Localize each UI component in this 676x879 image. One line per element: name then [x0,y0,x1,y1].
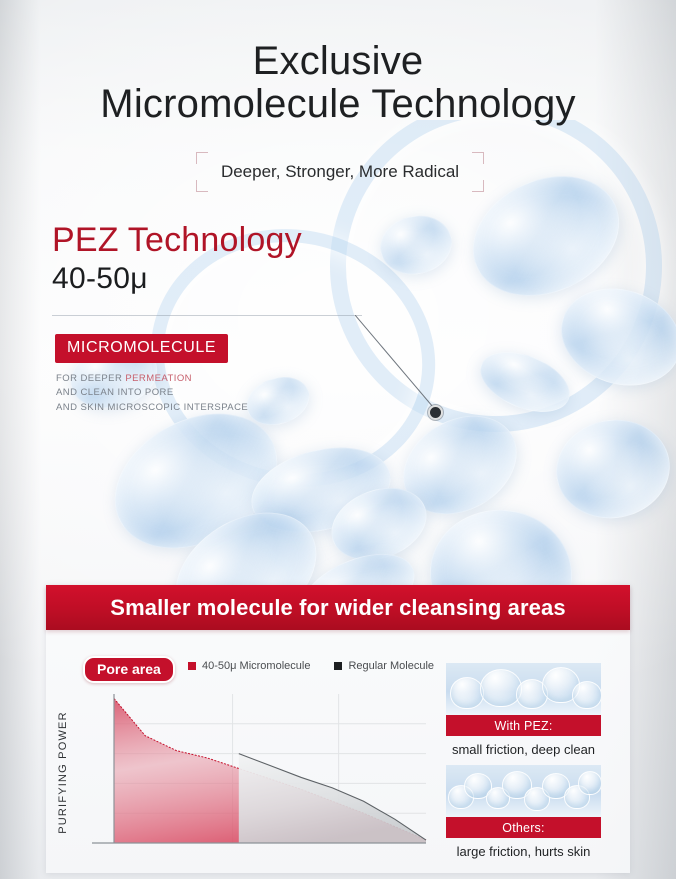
pez-size-value: 40-50μ [52,261,302,297]
purifying-power-chart [86,690,430,855]
micromolecule-desc-line-2: AND CLEAN INTO PORE [56,386,248,400]
tagline-text: Deeper, Stronger, More Radical [190,150,490,194]
panel-bar-others: Others: [446,817,601,838]
panel-caption-others: large friction, hurts skin [436,844,611,859]
y-axis-label: PURIFYING POWER [52,690,74,855]
bubble-icon [572,681,601,709]
panel-with-pez: With PEZ: small friction, deep clean [446,663,601,757]
y-axis-label-wrap: PURIFYING POWER [58,690,80,855]
panel-caption-with-pez: small friction, deep clean [436,742,611,757]
chart-canvas [86,690,430,855]
pore-area-badge: Pore area [83,656,175,683]
leader-horizontal-rule [52,315,362,316]
legend-item-micromolecule: 40-50μ Micromolecule [188,660,310,672]
legend-swatch-icon [188,662,196,670]
pez-technology-block: PEZ Technology 40-50μ [52,222,302,297]
page-title: Exclusive Micromolecule Technology [0,40,676,127]
panel-image-others [446,765,601,817]
tagline-frame: Deeper, Stronger, More Radical [190,150,490,194]
legend-label: 40-50μ Micromolecule [202,660,310,672]
legend-item-regular: Regular Molecule [334,660,434,672]
panel-image-with-pez [446,663,601,715]
molecule-bubble [548,411,676,527]
leader-endpoint-dot [428,405,443,420]
headline-line-2: Micromolecule Technology [0,82,676,127]
leader-line-icon [355,315,441,413]
micromolecule-desc-line-3: AND SKIN MICROSCOPIC INTERSPACE [56,401,248,415]
panel-bar-with-pez: With PEZ: [446,715,601,736]
bubble-icon [578,771,601,795]
card-banner: Smaller molecule for wider cleansing are… [46,585,630,630]
micromolecule-badge: MICROMOLECULE [55,334,228,363]
panel-others: Others: large friction, hurts skin [446,765,601,859]
headline-line-1: Exclusive [0,40,676,82]
chart-series [114,698,426,843]
molecule-bubble [424,503,579,595]
bubble-icon [450,677,484,709]
micromolecule-desc-line-1: FOR DEEPER PERMEATION [56,372,248,386]
chart-legend: 40-50μ Micromolecule Regular Molecule [188,660,434,672]
micromolecule-description: FOR DEEPER PERMEATION AND CLEAN INTO POR… [56,372,248,415]
comparison-card: Smaller molecule for wider cleansing are… [46,585,630,873]
permeation-highlight: PERMEATION [125,373,192,384]
legend-label: Regular Molecule [348,660,434,672]
legend-swatch-icon [334,662,342,670]
bubble-icon [480,669,522,707]
pez-title: PEZ Technology [52,222,302,259]
